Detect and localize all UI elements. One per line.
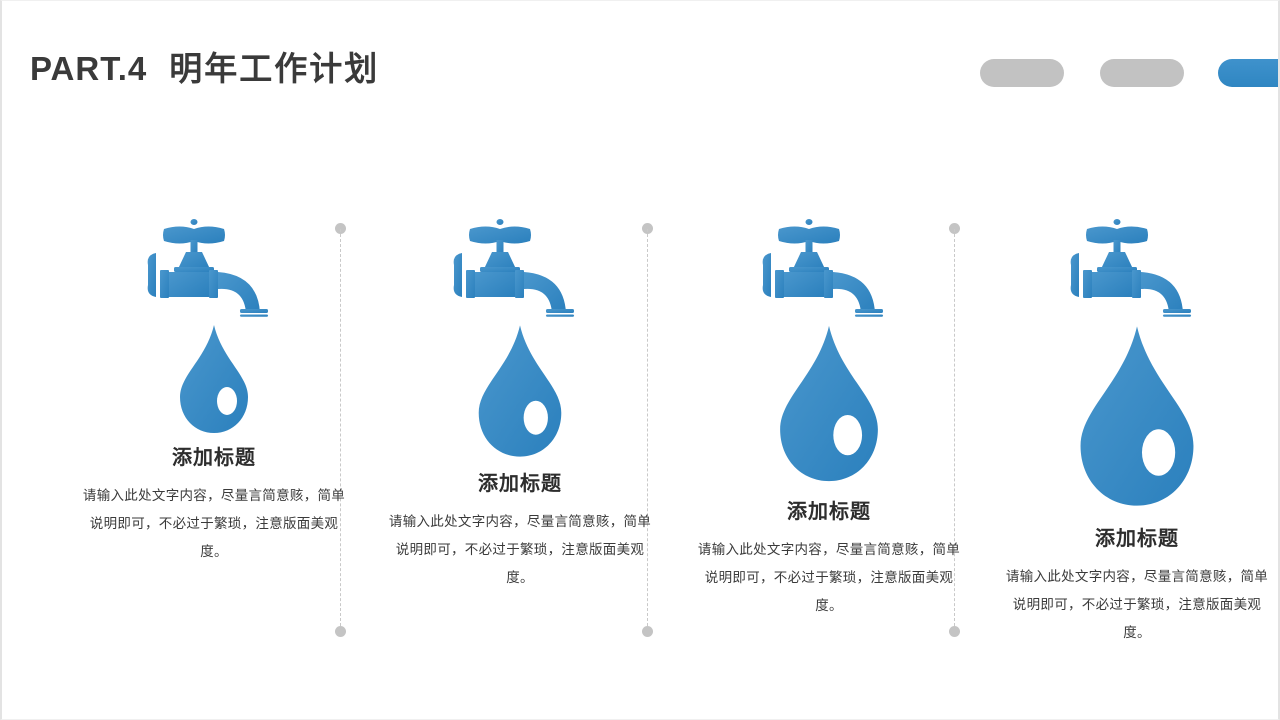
faucet-icon [134,217,294,322]
item-title: 添加标题 [987,522,1280,551]
water-drop-icon [777,323,881,489]
faucet-icon-svg [749,217,909,317]
item-description: 请输入此处文字内容，尽量言简意赅，简单说明即可，不必过于繁琐，注意版面美观度。 [987,563,1280,647]
faucet-icon [749,217,909,322]
faucet-icon [440,217,600,322]
item-title: 添加标题 [370,467,670,496]
water-drop-icon-svg [178,323,250,435]
water-drop-icon [1077,323,1197,514]
water-drop-icon-svg [476,323,564,459]
item-description: 请输入此处文字内容，尽量言简意赅，简单说明即可，不必过于繁琐，注意版面美观度。 [64,482,364,566]
item-text-block: 添加标题 请输入此处文字内容，尽量言简意赅，简单说明即可，不必过于繁琐，注意版面… [64,441,364,566]
item-text-block: 添加标题 请输入此处文字内容，尽量言简意赅，简单说明即可，不必过于繁琐，注意版面… [679,495,979,620]
slide-canvas: PART.4明年工作计划 [0,0,1280,720]
water-drop-icon [178,323,250,440]
water-drop-icon-svg [1077,323,1197,509]
faucet-icon-svg [440,217,600,317]
item-title: 添加标题 [679,495,979,524]
water-drop-icon-svg [777,323,881,484]
faucet-icon-svg [1057,217,1217,317]
content-column-4: 添加标题 请输入此处文字内容，尽量言简意赅，简单说明即可，不必过于繁琐，注意版面… [987,1,1280,720]
faucet-icon [1057,217,1217,322]
item-text-block: 添加标题 请输入此处文字内容，尽量言简意赅，简单说明即可，不必过于繁琐，注意版面… [370,467,670,592]
item-description: 请输入此处文字内容，尽量言简意赅，简单说明即可，不必过于繁琐，注意版面美观度。 [679,536,979,620]
faucet-icon-svg [134,217,294,317]
item-text-block: 添加标题 请输入此处文字内容，尽量言简意赅，简单说明即可，不必过于繁琐，注意版面… [987,522,1280,647]
water-drop-icon [476,323,564,464]
item-description: 请输入此处文字内容，尽量言简意赅，简单说明即可，不必过于繁琐，注意版面美观度。 [370,508,670,592]
content-column-1: 添加标题 请输入此处文字内容，尽量言简意赅，简单说明即可，不必过于繁琐，注意版面… [64,1,364,720]
item-title: 添加标题 [64,441,364,470]
content-column-2: 添加标题 请输入此处文字内容，尽量言简意赅，简单说明即可，不必过于繁琐，注意版面… [370,1,670,720]
content-column-3: 添加标题 请输入此处文字内容，尽量言简意赅，简单说明即可，不必过于繁琐，注意版面… [679,1,979,720]
